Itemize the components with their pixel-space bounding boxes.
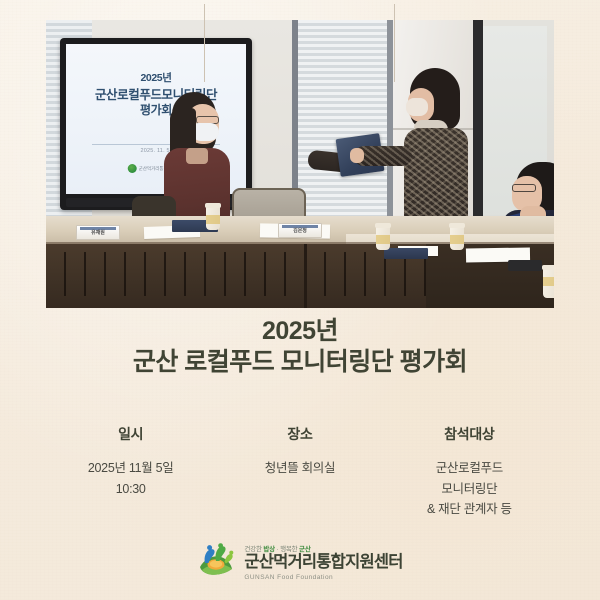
name-placard: 유재원 xyxy=(76,225,120,240)
window-blinds-middle xyxy=(298,20,390,216)
face-mask xyxy=(406,98,428,116)
detail-value-line: 청년뜰 회의실 xyxy=(221,458,378,479)
cup-band xyxy=(206,215,220,224)
placard-name: 김은정 xyxy=(279,227,321,234)
detail-value-line: 10:30 xyxy=(52,479,209,500)
detail-value-line: & 재단 관계자 등 xyxy=(391,499,548,520)
cup-band xyxy=(376,235,390,244)
placard-name: 유재원 xyxy=(77,229,119,236)
poster-title: 2025년 군산 로컬푸드 모니터링단 평가회 xyxy=(0,316,600,377)
collar xyxy=(186,148,208,164)
foundation-logo-icon xyxy=(197,543,235,581)
title-line-1: 2025년 xyxy=(0,316,600,347)
smartphone xyxy=(508,260,542,271)
detail-label: 참석대상 xyxy=(391,424,548,444)
logo-tagline: 건강한 밥상 · 행복한 군산 xyxy=(244,543,402,553)
detail-value: 2025년 11월 5일 10:30 xyxy=(52,458,209,499)
navy-folder-on-table xyxy=(384,248,428,259)
coffee-cup xyxy=(543,268,554,298)
slide-logo-icon xyxy=(128,164,137,173)
column-divider xyxy=(394,4,395,82)
poster-card: 2025년 군산로컬푸드모니터링단 평가회 2025. 11. 5. 군산먹거리… xyxy=(0,0,600,600)
detail-column-datetime: 일시 2025년 11월 5일 10:30 xyxy=(46,424,215,499)
foundation-name: 군산먹거리통합지원센터 xyxy=(244,554,402,571)
title-line-2: 군산 로컬푸드 모니터링단 평가회 xyxy=(0,347,600,378)
detail-column-attendees: 참석대상 군산로컬푸드 모니터링단 & 재단 관계자 등 xyxy=(385,424,554,520)
slide-title-year: 2025년 xyxy=(66,70,246,85)
detail-value: 군산로컬푸드 모니터링단 & 재단 관계자 등 xyxy=(391,458,548,520)
detail-value: 청년뜰 회의실 xyxy=(221,458,378,479)
event-photo: 2025년 군산로컬푸드모니터링단 평가회 2025. 11. 5. 군산먹거리… xyxy=(46,20,554,308)
face-mask xyxy=(193,123,219,141)
detail-label: 일시 xyxy=(52,424,209,444)
coffee-cup xyxy=(206,206,220,230)
photo-scene: 2025년 군산로컬푸드모니터링단 평가회 2025. 11. 5. 군산먹거리… xyxy=(46,20,554,308)
detail-value-line: 군산로컬푸드 xyxy=(391,458,548,479)
organization-logo: 건강한 밥상 · 행복한 군산 군산먹거리통합지원센터 GUNSAN Food … xyxy=(0,543,600,581)
event-details: 일시 2025년 11월 5일 10:30 장소 청년뜰 회의실 참석대상 군산… xyxy=(46,424,554,520)
glasses-icon xyxy=(512,184,536,192)
table-skirt-divider xyxy=(304,244,307,308)
cup-band xyxy=(543,277,554,286)
coffee-cup xyxy=(376,226,390,250)
column-divider xyxy=(204,4,205,82)
name-placard: 김은정 xyxy=(278,223,322,238)
detail-label: 장소 xyxy=(221,424,378,444)
foundation-name-english: GUNSAN Food Foundation xyxy=(244,574,402,581)
detail-column-location: 장소 청년뜰 회의실 xyxy=(215,424,384,479)
foundation-logo-text: 건강한 밥상 · 행복한 군산 군산먹거리통합지원센터 GUNSAN Food … xyxy=(244,543,402,580)
coffee-cup xyxy=(450,226,464,250)
detail-value-line: 모니터링단 xyxy=(391,479,548,500)
hand xyxy=(350,148,364,163)
detail-value-line: 2025년 11월 5일 xyxy=(52,458,209,479)
cup-band xyxy=(450,235,464,244)
